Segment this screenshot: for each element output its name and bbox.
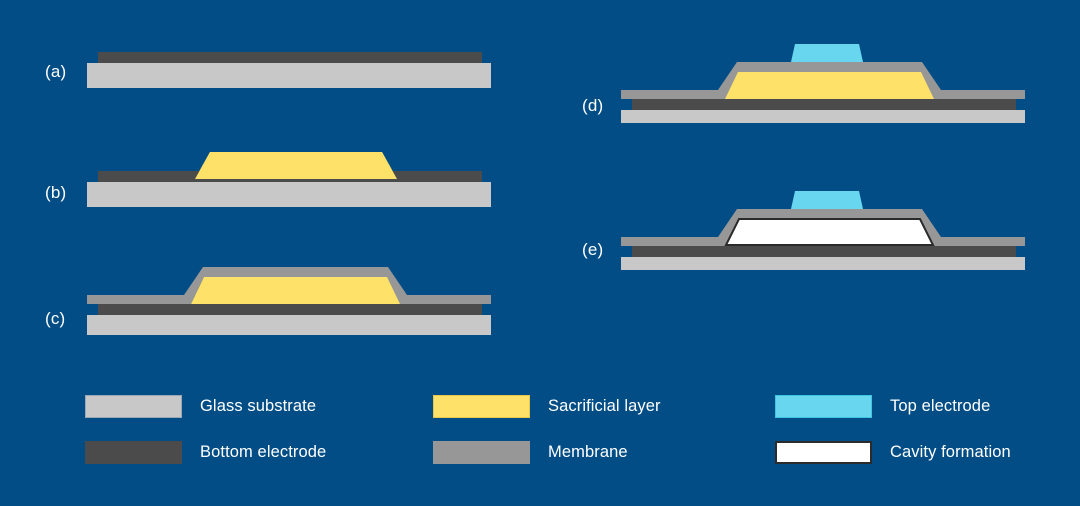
membrane-flat-right [405,295,491,304]
sacrificial-layer-shape [191,277,400,304]
legend-item-membrane: Membrane [433,440,628,464]
panel-e-stack [619,185,1029,270]
panel-label-d: (d) [582,96,603,116]
bottom-electrode-layer [98,304,482,315]
bottom-electrode-layer [632,99,1016,110]
legend-label-top-electrode: Top electrode [890,397,990,416]
glass-substrate-layer [87,315,491,335]
panel-label-c: (c) [45,309,65,329]
glass-substrate-layer [621,110,1025,123]
legend: Glass substrate Bottom electrode Sacrifi… [85,392,1045,477]
legend-column-1: Glass substrate Bottom electrode [85,392,405,477]
legend-label-membrane: Membrane [548,443,628,462]
legend-swatch-membrane [433,441,530,464]
top-electrode-shape [791,191,863,209]
legend-label-sacrificial-layer: Sacrificial layer [548,397,661,416]
membrane-flat-left [87,295,185,304]
sacrificial-layer-shape [725,72,934,99]
panel-label-a: (a) [45,62,66,82]
legend-swatch-glass-substrate [85,395,182,418]
panel-c-stack [85,263,495,335]
legend-swatch-sacrificial-layer [433,395,530,418]
cavity-shape [726,219,933,245]
glass-substrate-layer [621,257,1025,270]
glass-substrate-layer [87,63,491,88]
panel-d-stack [619,38,1029,123]
legend-label-glass-substrate: Glass substrate [200,397,316,416]
legend-label-bottom-electrode: Bottom electrode [200,443,326,462]
panel-label-e: (e) [582,240,603,260]
glass-substrate-layer [87,182,491,207]
legend-swatch-cavity-formation [775,441,872,464]
legend-item-sacrificial-layer: Sacrificial layer [433,394,661,418]
bottom-electrode-layer [632,246,1016,257]
panel-a-stack [85,48,495,93]
figure-canvas: (a) (b) (c) (d) (e) [0,0,1080,506]
top-electrode-shape [791,44,863,62]
legend-swatch-top-electrode [775,395,872,418]
sacrificial-layer-front [195,152,397,179]
legend-column-2: Sacrificial layer Membrane [433,392,753,477]
legend-item-bottom-electrode: Bottom electrode [85,440,326,464]
legend-swatch-bottom-electrode [85,441,182,464]
legend-column-3: Top electrode Cavity formation [775,392,1080,477]
panel-b-stack [85,148,495,210]
legend-item-glass-substrate: Glass substrate [85,394,316,418]
legend-item-top-electrode: Top electrode [775,394,990,418]
legend-label-cavity-formation: Cavity formation [890,443,1011,462]
legend-item-cavity-formation: Cavity formation [775,440,1011,464]
bottom-electrode-layer [98,52,482,63]
panel-label-b: (b) [45,183,66,203]
